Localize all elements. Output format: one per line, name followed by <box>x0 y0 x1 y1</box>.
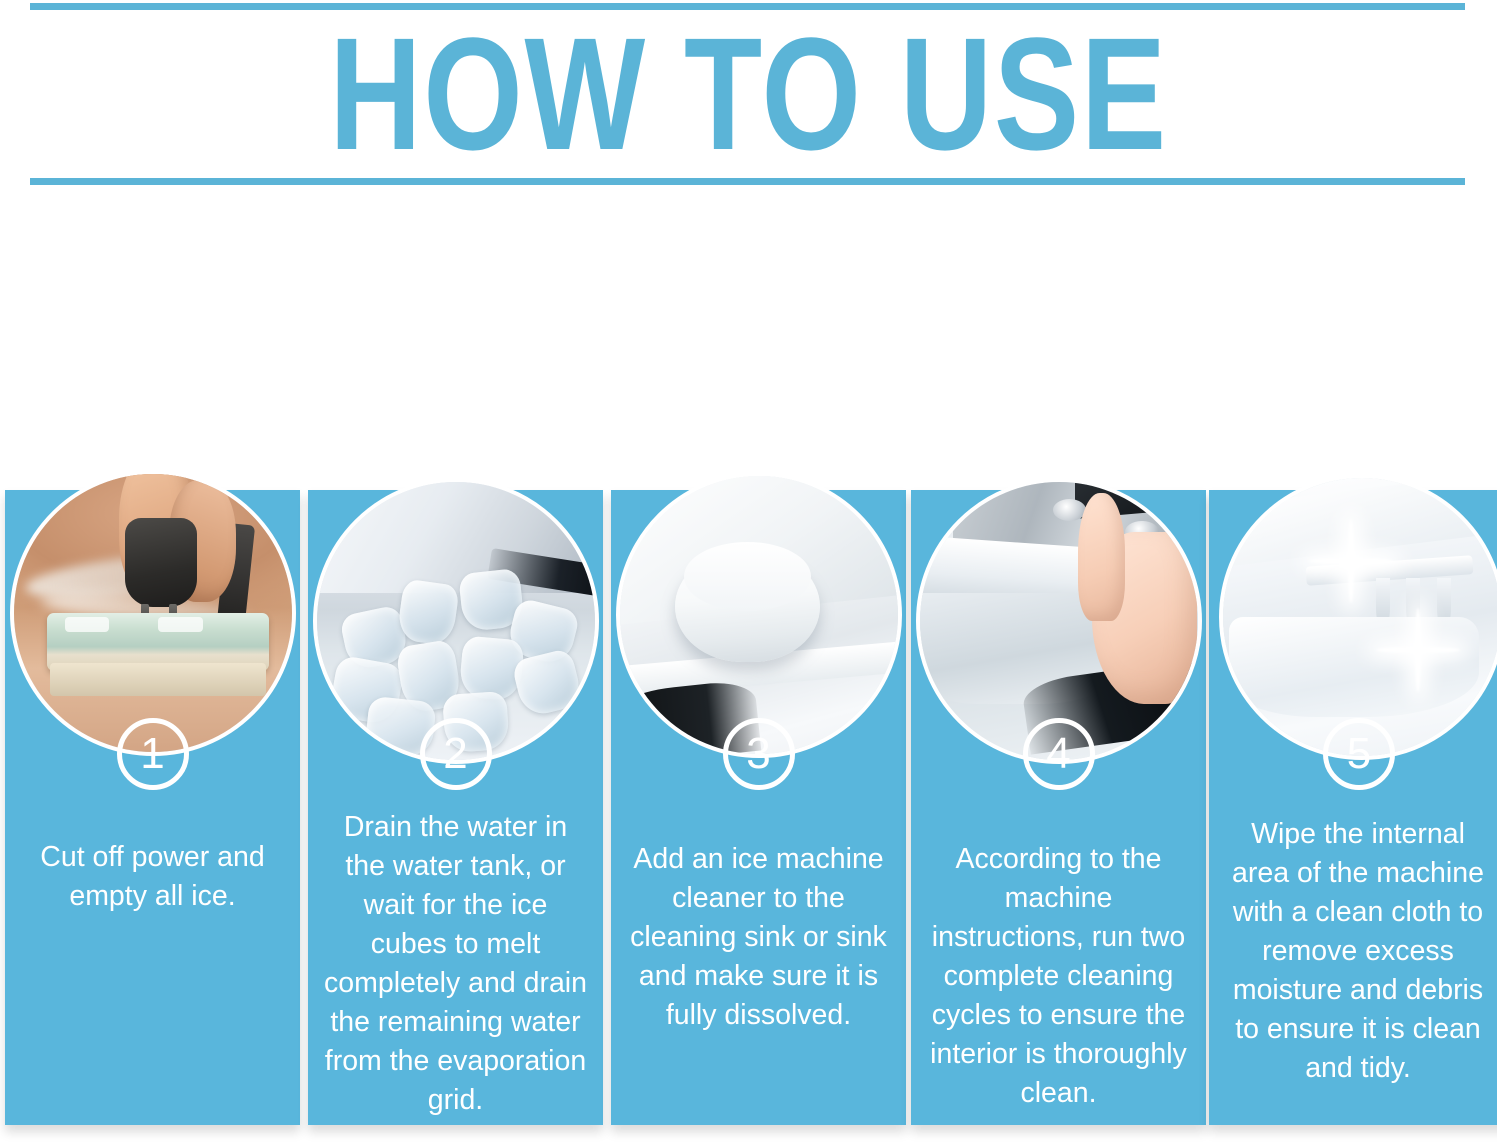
step-number-badge-3: 3 <box>723 718 795 790</box>
step-caption-3: Add an ice machine cleaner to the cleani… <box>625 840 892 1035</box>
step-number-badge-2: 2 <box>420 718 492 790</box>
step-card-5: 5 Wipe the internal area of the machine … <box>1209 490 1497 1125</box>
ice-machine-cleaning-cap-photo <box>616 472 902 758</box>
hand-unplugging-power-cord-photo <box>10 470 296 756</box>
step-card-2: 2 Drain the water in the water tank, or … <box>308 490 603 1125</box>
step-number-badge-5: 5 <box>1323 718 1395 790</box>
steps-row: 1 Cut off power and empty all ice. 2 Dra… <box>0 0 1497 1143</box>
step-card-4: 4 According to the machine instructions,… <box>911 490 1206 1125</box>
step-card-1: 1 Cut off power and empty all ice. <box>5 490 300 1125</box>
step-number-badge-1: 1 <box>117 718 189 790</box>
step-caption-2: Drain the water in the water tank, or wa… <box>322 808 589 1120</box>
step-caption-5: Wipe the internal area of the machine wi… <box>1219 815 1497 1088</box>
step-number-badge-4: 4 <box>1023 718 1095 790</box>
step-card-3: 3 Add an ice machine cleaner to the clea… <box>611 490 906 1125</box>
step-caption-1: Cut off power and empty all ice. <box>19 838 286 916</box>
step-caption-4: According to the machine instructions, r… <box>925 840 1192 1113</box>
